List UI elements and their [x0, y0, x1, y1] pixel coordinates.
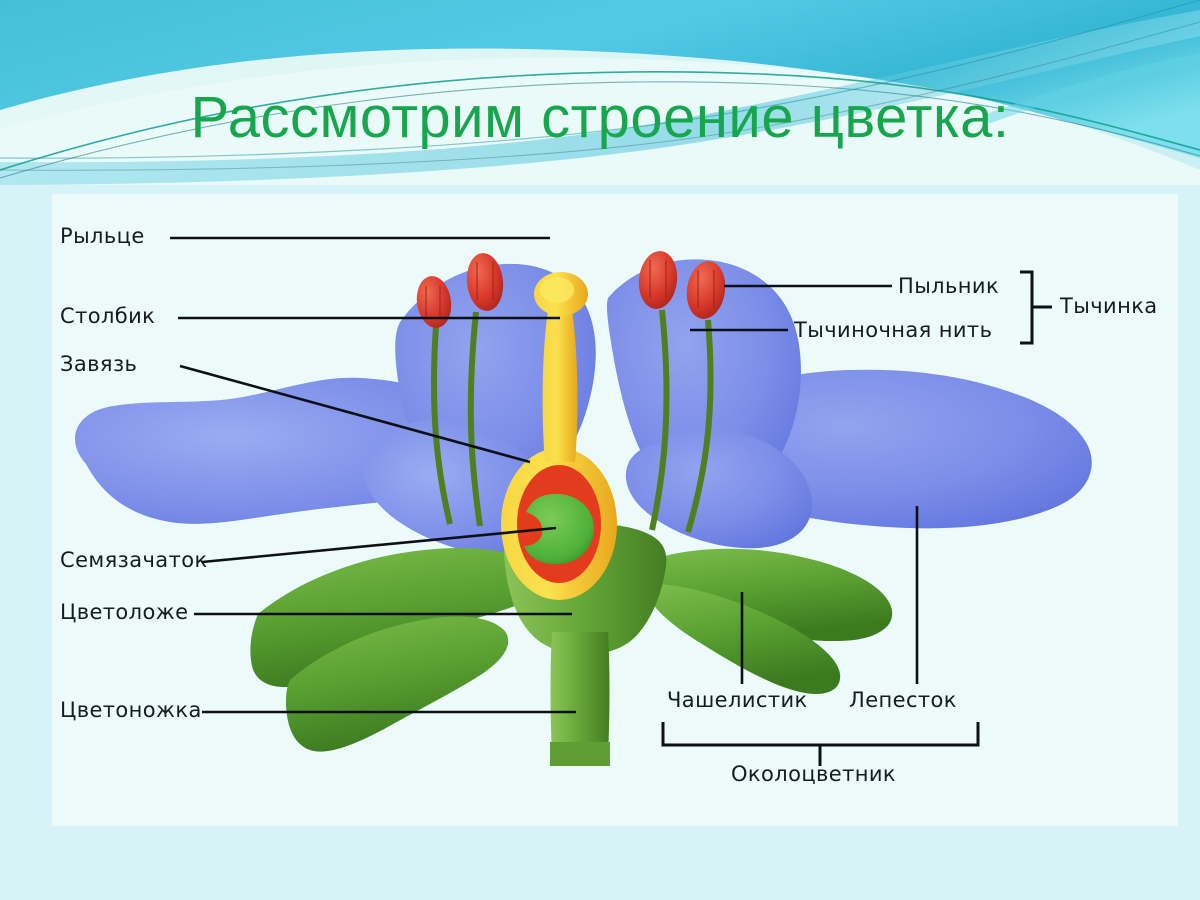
- label-perianth-group: Околоцветник: [731, 762, 896, 786]
- label-anther: Пыльник: [898, 274, 999, 298]
- label-petal: Лепесток: [849, 688, 957, 712]
- label-stamen-group: Тычинка: [1060, 294, 1158, 318]
- pedicel: [550, 632, 610, 766]
- label-style: Столбик: [60, 304, 155, 328]
- label-ovule: Семязачаток: [60, 548, 208, 572]
- brace-perianth: [663, 722, 978, 766]
- slide-title: Рассмотрим строение цветка:: [0, 88, 1200, 149]
- label-stigma: Рыльце: [60, 224, 145, 248]
- label-ovary: Завязь: [60, 352, 137, 376]
- label-sepal: Чашелистик: [667, 688, 808, 712]
- brace-stamen: [1020, 272, 1052, 343]
- label-pedicel: Цветоножка: [60, 698, 202, 722]
- label-receptacle: Цветоложе: [60, 600, 188, 624]
- slide-canvas: Рассмотрим строение цветка:: [0, 0, 1200, 900]
- label-filament: Тычиночная нить: [794, 318, 992, 342]
- flower-diagram: [52, 194, 1178, 826]
